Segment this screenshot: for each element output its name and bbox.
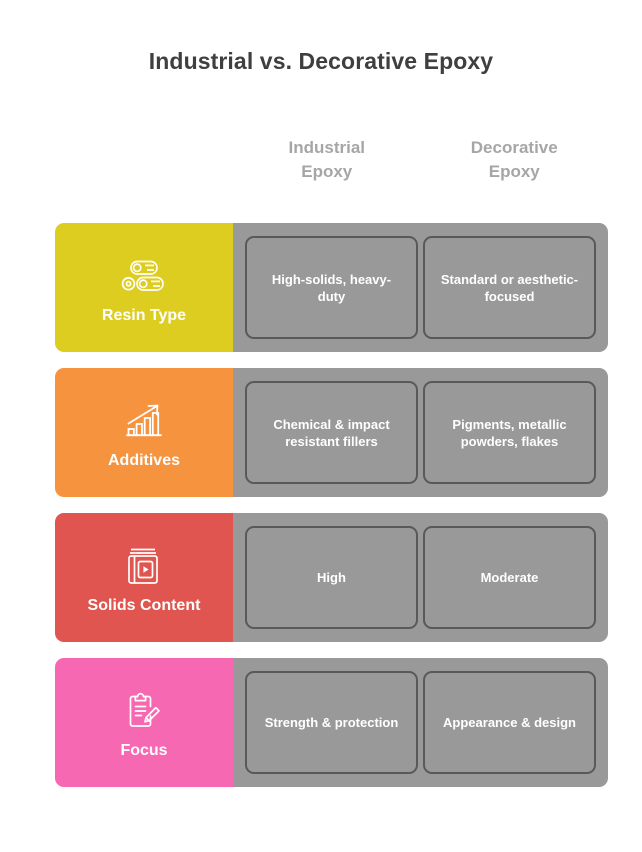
row-label-panel-solids-content: Solids Content <box>55 513 233 642</box>
row-values-solids-content: High Moderate <box>233 513 608 642</box>
clipboard-pencil-icon <box>121 689 167 733</box>
row-label-panel-additives: Additives <box>55 368 233 497</box>
value-cell-industrial: Strength & protection <box>245 671 418 774</box>
row-label-focus: Focus <box>120 741 167 760</box>
value-cell-industrial: High-solids, heavy-duty <box>245 236 418 339</box>
infographic-root: Industrial vs. Decorative Epoxy Industri… <box>0 0 642 852</box>
column-header-decorative-line1: Decorative <box>421 136 609 160</box>
table-row: Solids Content High Moderate <box>55 513 608 642</box>
page-title: Industrial vs. Decorative Epoxy <box>0 48 642 75</box>
column-header-industrial-line2: Epoxy <box>233 160 421 184</box>
row-label-panel-resin-type: Resin Type <box>55 223 233 352</box>
value-cell-decorative: Appearance & design <box>423 671 596 774</box>
column-headers: Industrial Epoxy Decorative Epoxy <box>233 136 608 184</box>
column-header-decorative-line2: Epoxy <box>421 160 609 184</box>
row-values-additives: Chemical & impact resistant fillers Pigm… <box>233 368 608 497</box>
value-cell-decorative: Moderate <box>423 526 596 629</box>
growth-chart-icon <box>121 399 167 443</box>
row-values-focus: Strength & protection Appearance & desig… <box>233 658 608 787</box>
row-label-additives: Additives <box>108 451 180 470</box>
table-row: Additives Chemical & impact resistant fi… <box>55 368 608 497</box>
value-cell-decorative: Standard or aesthetic-focused <box>423 236 596 339</box>
table-row: Focus Strength & protection Appearance &… <box>55 658 608 787</box>
value-cell-decorative: Pigments, metallic powders, flakes <box>423 381 596 484</box>
stacked-logs-icon <box>121 254 167 298</box>
value-cell-industrial: Chemical & impact resistant fillers <box>245 381 418 484</box>
comparison-rows: Resin Type High-solids, heavy-duty Stand… <box>55 223 608 787</box>
row-label-panel-focus: Focus <box>55 658 233 787</box>
table-row: Resin Type High-solids, heavy-duty Stand… <box>55 223 608 352</box>
row-values-resin-type: High-solids, heavy-duty Standard or aest… <box>233 223 608 352</box>
row-label-solids-content: Solids Content <box>88 596 201 615</box>
column-header-industrial-line1: Industrial <box>233 136 421 160</box>
value-cell-industrial: High <box>245 526 418 629</box>
column-header-decorative: Decorative Epoxy <box>421 136 609 184</box>
book-play-icon <box>121 544 167 588</box>
column-header-industrial: Industrial Epoxy <box>233 136 421 184</box>
row-label-resin-type: Resin Type <box>102 306 186 325</box>
